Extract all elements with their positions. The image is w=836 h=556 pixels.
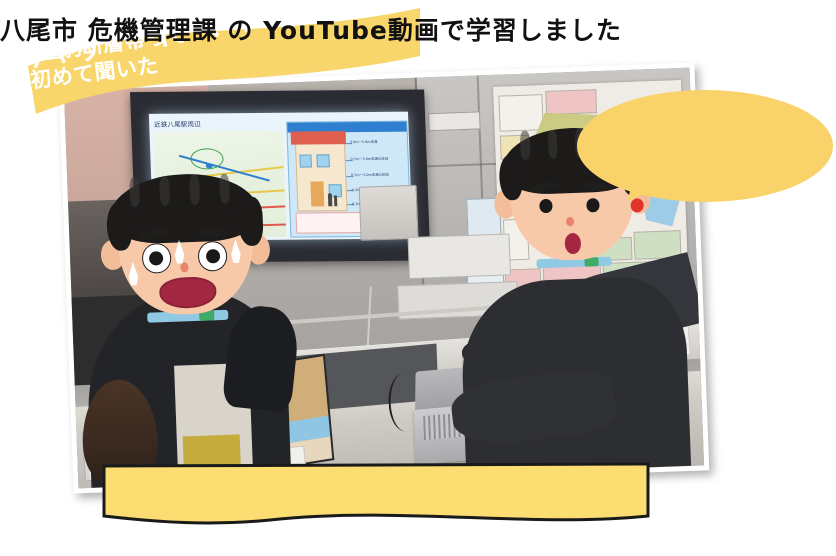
eye-right — [198, 241, 228, 271]
hair-highlight — [159, 176, 171, 207]
mouth-small-o — [565, 233, 582, 254]
speech-bubble — [565, 84, 836, 234]
printer — [359, 185, 419, 241]
caption-banner — [100, 462, 652, 528]
hair-highlight — [219, 174, 231, 205]
slide-title: 近鉄八尾駅周辺 — [154, 119, 201, 129]
person-icon — [328, 193, 332, 207]
hair-highlight — [129, 177, 141, 208]
legend-item: 0.5m〜1.0m未満の区域 — [351, 172, 389, 177]
pupil-left — [149, 251, 163, 266]
poster-canvas: 近鉄八尾駅周辺 — [0, 0, 836, 556]
map-marker — [206, 163, 213, 168]
house-roof — [291, 131, 346, 144]
cartoon-face-left — [105, 171, 267, 320]
legend-item: 3.0m〜5.0m未満 — [349, 139, 377, 144]
eye-left — [142, 243, 172, 273]
hair-highlight — [520, 131, 531, 160]
cabinet-label — [428, 111, 481, 131]
pupil-right — [206, 249, 220, 264]
house-window — [299, 154, 312, 167]
house-window — [317, 154, 330, 167]
hair-highlight — [547, 130, 558, 159]
av-equipment — [408, 234, 512, 280]
poster-block — [499, 94, 544, 132]
person-icon — [334, 195, 338, 206]
house-door — [310, 182, 324, 207]
legend-item: 0.5m〜3.0m未満の区域 — [350, 156, 388, 161]
hair-highlight — [189, 175, 201, 206]
caption-text: 八尾市 危機管理課 の YouTube動画で学習しました — [0, 11, 552, 47]
eye-left — [539, 199, 552, 213]
